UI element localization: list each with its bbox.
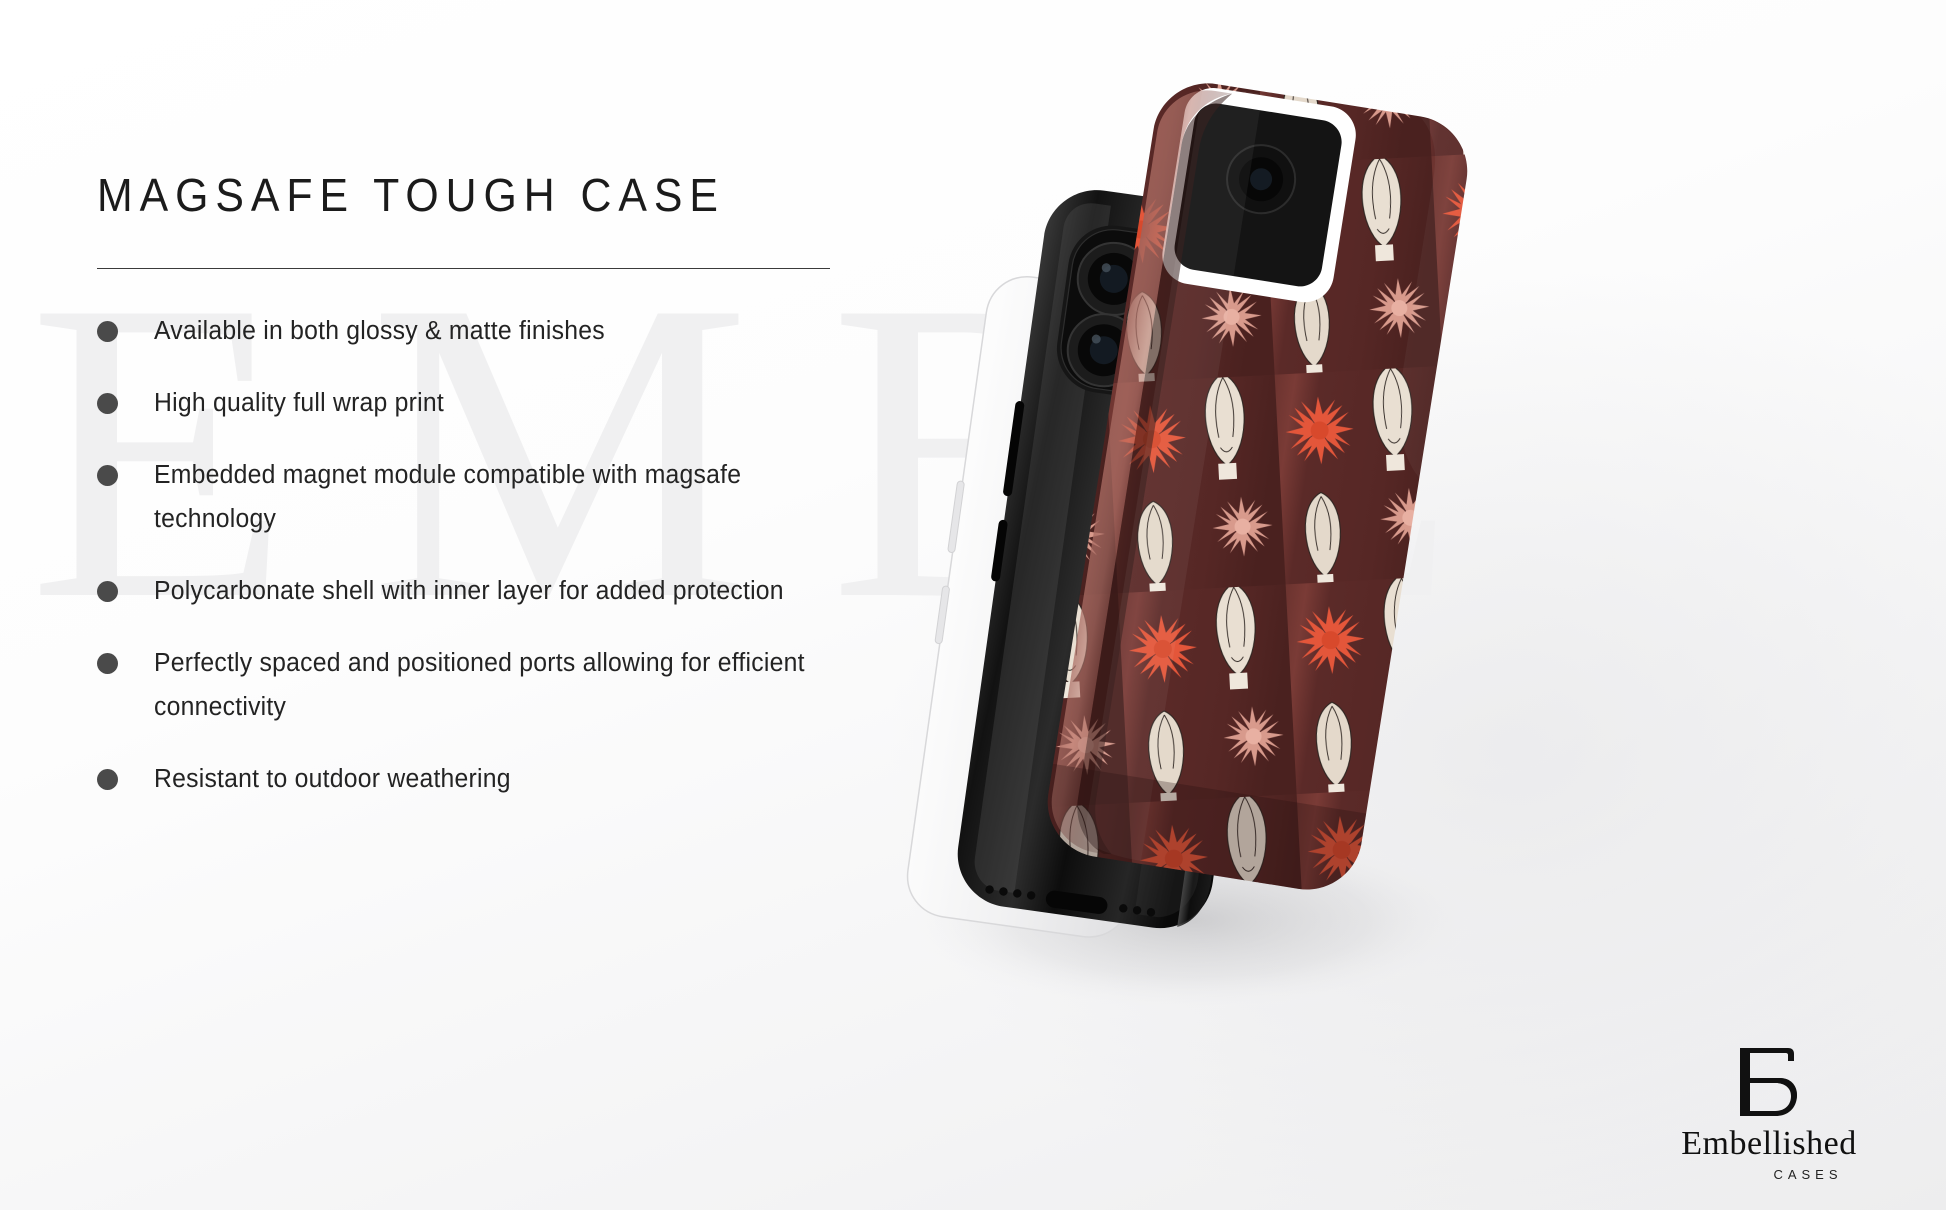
bullet-dot-icon [97, 393, 118, 414]
logo-subtitle: CASES [1722, 1167, 1894, 1182]
bullet-dot-icon [97, 465, 118, 486]
list-item: High quality full wrap print [97, 381, 887, 425]
list-item: Polycarbonate shell with inner layer for… [97, 569, 887, 613]
feature-text: Polycarbonate shell with inner layer for… [154, 569, 784, 613]
logo-wordmark: Embellished [1644, 1127, 1894, 1161]
feature-text: Perfectly spaced and positioned ports al… [154, 641, 823, 729]
feature-text: Resistant to outdoor weathering [154, 757, 511, 801]
page-title: MAGSAFE TOUGH CASE [97, 168, 832, 222]
list-item: Embedded magnet module compatible with m… [97, 453, 887, 541]
bullet-dot-icon [97, 769, 118, 790]
feature-panel: MAGSAFE TOUGH CASE Available in both glo… [97, 168, 887, 829]
brand-logo: Embellished CASES [1644, 1045, 1894, 1182]
list-item: Perfectly spaced and positioned ports al… [97, 641, 887, 729]
product-photo [830, 40, 1570, 1050]
bullet-dot-icon [97, 581, 118, 602]
bullet-dot-icon [97, 653, 118, 674]
feature-text: Available in both glossy & matte finishe… [154, 309, 605, 353]
list-item: Resistant to outdoor weathering [97, 757, 887, 801]
bullet-dot-icon [97, 321, 118, 342]
title-divider [97, 268, 830, 269]
feature-text: Embedded magnet module compatible with m… [154, 453, 823, 541]
feature-list: Available in both glossy & matte finishe… [97, 309, 887, 801]
embellished-e-monogram-icon [1736, 1045, 1802, 1119]
feature-text: High quality full wrap print [154, 381, 444, 425]
list-item: Available in both glossy & matte finishe… [97, 309, 887, 353]
